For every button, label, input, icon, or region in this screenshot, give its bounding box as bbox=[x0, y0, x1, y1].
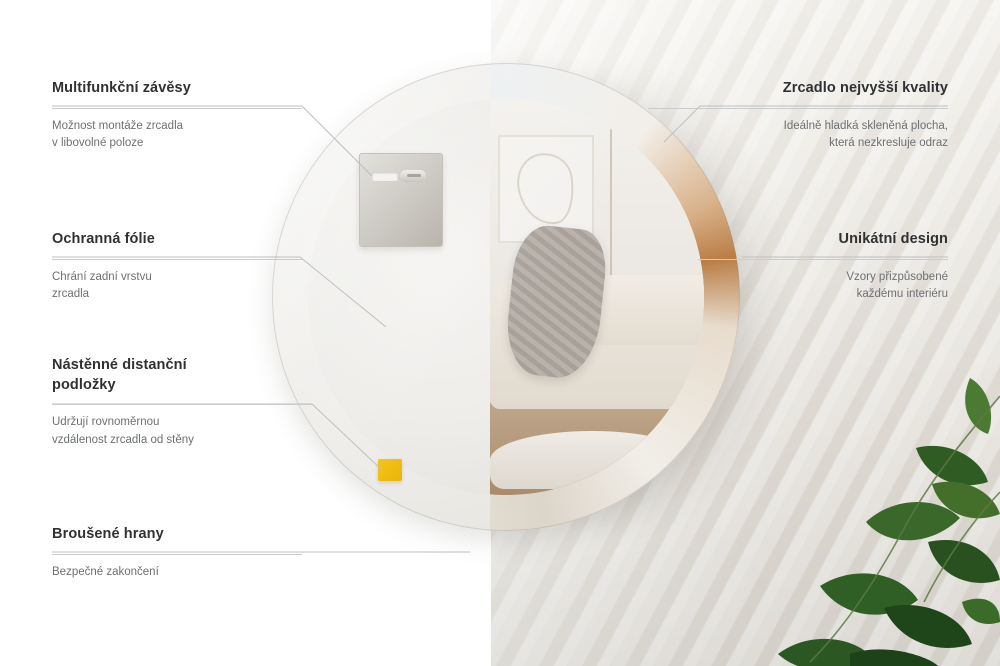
callout-title: Multifunkční závěsy bbox=[52, 79, 302, 99]
hanger-screw bbox=[400, 170, 426, 182]
callout-description: Bezpečné zakončení bbox=[52, 564, 302, 582]
wall-spacer-pad-part bbox=[378, 459, 402, 481]
hanger-slot bbox=[372, 172, 398, 181]
callout-title: Ochranná fólie bbox=[52, 230, 302, 250]
callout-title: Nástěnné distanční podložky bbox=[52, 356, 314, 395]
callout-description: Ideálně hladká skleněná plocha, která ne… bbox=[648, 118, 948, 154]
callout-unique-design: Unikátní design Vzory přizpůsobené každé… bbox=[698, 230, 948, 304]
callout-multifunctional-hangers: Multifunkční závěsy Možnost montáže zrca… bbox=[52, 79, 302, 153]
callout-description: Udržují rovnoměrnou vzdálenost zrcadla o… bbox=[52, 414, 314, 450]
callout-description: Možnost montáže zrcadla v libovolné polo… bbox=[52, 118, 302, 154]
callout-rule bbox=[648, 108, 948, 109]
callout-description: Vzory přizpůsobené každému interiéru bbox=[698, 269, 948, 305]
callout-top-quality-mirror: Zrcadlo nejvyšší kvality Ideálně hladká … bbox=[648, 79, 948, 153]
callout-title: Unikátní design bbox=[698, 230, 948, 250]
callout-description: Chrání zadní vrstvu zrcadla bbox=[52, 269, 302, 305]
callout-rule bbox=[52, 108, 302, 109]
callout-rule bbox=[698, 259, 948, 260]
infographic-canvas: Multifunkční závěsy Možnost montáže zrca… bbox=[0, 0, 1000, 666]
mirror-reflection bbox=[490, 99, 704, 495]
callout-title: Broušené hrany bbox=[52, 525, 302, 545]
reflected-pendant-lamp-icon bbox=[610, 99, 612, 295]
reflected-rug bbox=[490, 431, 694, 489]
callout-rule bbox=[52, 259, 302, 260]
callout-protective-foil: Ochranná fólie Chrání zadní vrstvu zrcad… bbox=[52, 230, 302, 304]
callout-wall-spacers: Nástěnné distanční podložky Udržují rovn… bbox=[52, 356, 314, 450]
callout-rule bbox=[52, 404, 314, 405]
callout-polished-edges: Broušené hrany Bezpečné zakončení bbox=[52, 525, 302, 581]
hanger-bracket-part bbox=[359, 153, 443, 247]
callout-title: Zrcadlo nejvyšší kvality bbox=[648, 79, 948, 99]
callout-rule bbox=[52, 554, 302, 555]
